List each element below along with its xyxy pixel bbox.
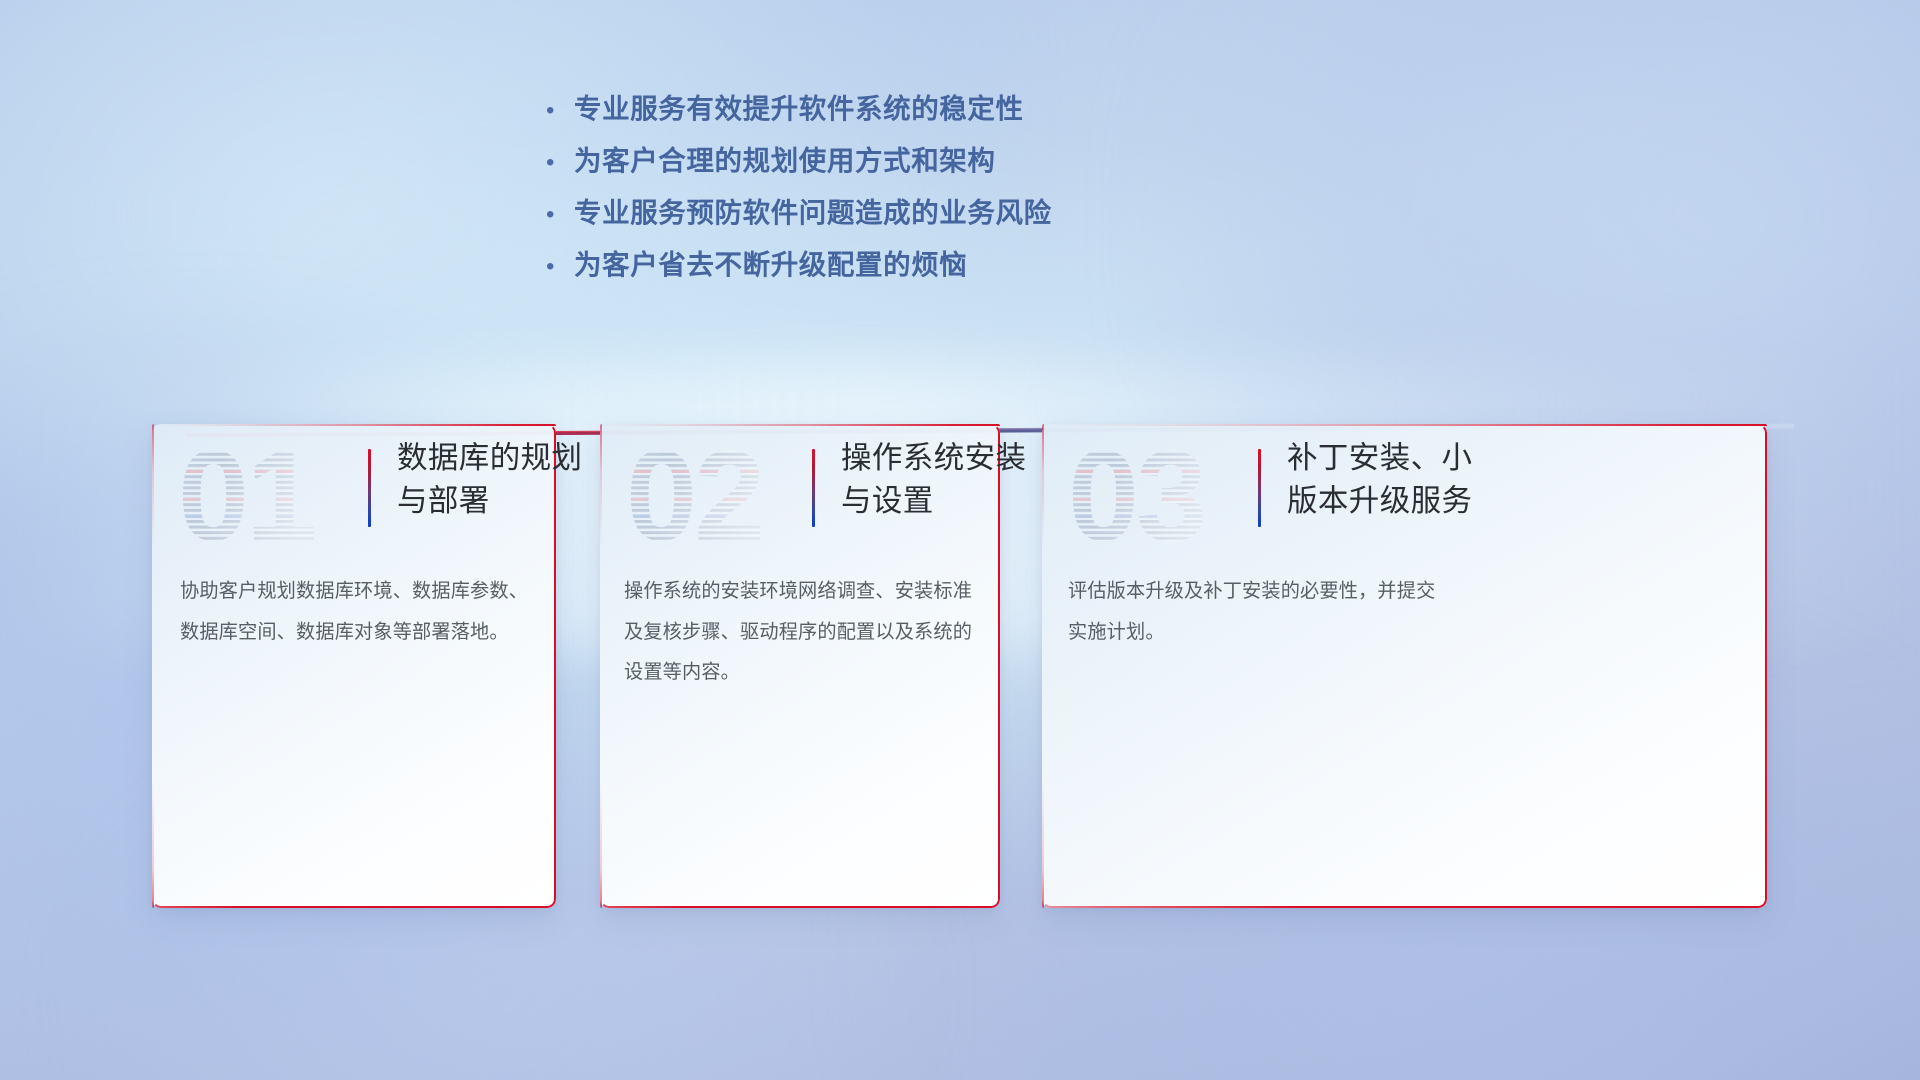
- card-header: 03 补丁安装、小 版本升级服务: [1042, 424, 1767, 584]
- card-title: 操作系统安装 与设置: [841, 437, 1071, 524]
- service-card-03[interactable]: 03 补丁安装、小 版本升级服务 评估版本: [1042, 424, 1767, 908]
- card-description: 协助客户规划数据库环境、数据库参数、数据库空间、数据库对象等部署落地。: [180, 572, 540, 653]
- bullet-label: 专业服务有效提升软件系统的稳定性: [574, 86, 1024, 126]
- bullet-dot-icon: •: [540, 203, 574, 227]
- card-title: 补丁安装、小 版本升级服务: [1287, 437, 1531, 524]
- list-item: • 为客户省去不断升级配置的烦恼: [540, 242, 1440, 294]
- bullet-dot-icon: •: [540, 255, 574, 279]
- bullet-label: 为客户合理的规划使用方式和架构: [574, 138, 996, 178]
- card-description: 评估版本升级及补丁安装的必要性，并提交实施计划。: [1068, 572, 1448, 653]
- benefits-bullet-list: • 专业服务有效提升软件系统的稳定性 • 为客户合理的规划使用方式和架构 • 专…: [540, 86, 1440, 294]
- title-divider-bar: [1258, 449, 1261, 527]
- bullet-label: 专业服务预防软件问题造成的业务风险: [574, 190, 1052, 230]
- title-divider-bar: [812, 449, 815, 527]
- card-title: 数据库的规划 与部署: [397, 437, 627, 524]
- watermark-number-02: 02: [620, 436, 768, 564]
- striped-number-glyph-icon: 03: [1062, 436, 1210, 564]
- service-card-group: 01 数据库的规划 与部署 协助客户规划数: [0, 424, 1920, 910]
- card-description: 操作系统的安装环境网络调查、安装标准及复核步骤、驱动程序的配置以及系统的设置等内…: [624, 572, 984, 694]
- bullet-label: 为客户省去不断升级配置的烦恼: [574, 242, 967, 282]
- striped-number-glyph-icon: 02: [620, 436, 768, 564]
- watermark-number-01: 01: [172, 436, 320, 564]
- list-item: • 为客户合理的规划使用方式和架构: [540, 138, 1440, 190]
- service-card-01[interactable]: 01 数据库的规划 与部署 协助客户规划数: [152, 424, 556, 908]
- service-card-02[interactable]: 02 操作系统安装 与设置 操作系统的安装: [600, 424, 1000, 908]
- card-header: 01 数据库的规划 与部署: [152, 424, 556, 584]
- bullet-dot-icon: •: [540, 151, 574, 175]
- card-header: 02 操作系统安装 与设置: [600, 424, 1000, 584]
- striped-number-glyph-icon: 01: [172, 436, 320, 564]
- title-divider-bar: [368, 449, 371, 527]
- bullet-dot-icon: •: [540, 99, 574, 123]
- list-item: • 专业服务预防软件问题造成的业务风险: [540, 190, 1440, 242]
- watermark-number-03: 03: [1062, 436, 1210, 564]
- list-item: • 专业服务有效提升软件系统的稳定性: [540, 86, 1440, 138]
